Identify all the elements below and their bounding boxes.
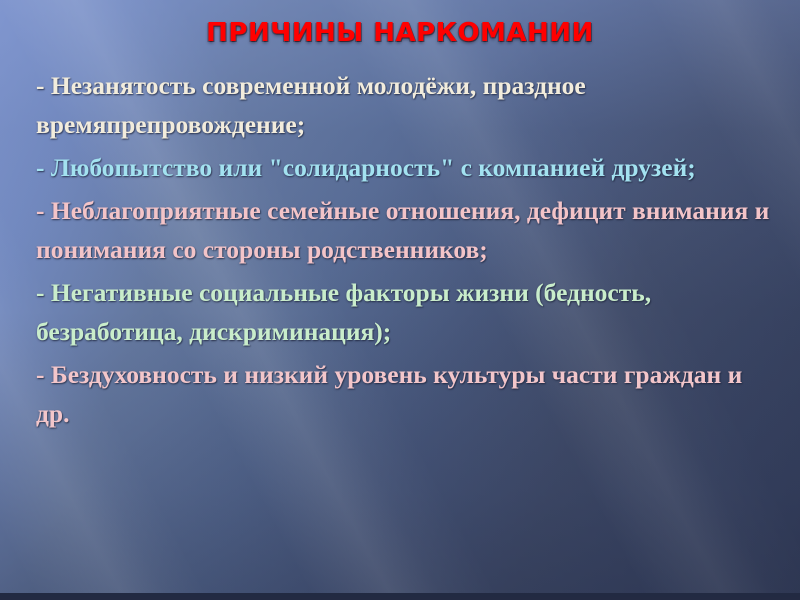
presentation-slide: ПРИЧИНЫ НАРКОМАНИИ - Незанятость совреме… (0, 0, 800, 600)
slide-body: - Незанятость современной молодёжи, праз… (36, 66, 778, 437)
bullet-paragraph-2: - Любопытство или "солидарность" с компа… (36, 148, 778, 187)
slide-title: ПРИЧИНЫ НАРКОМАНИИ (0, 18, 800, 48)
bullet-paragraph-3: - Неблагоприятные семейные отношения, де… (36, 191, 778, 269)
slide-content: ПРИЧИНЫ НАРКОМАНИИ - Незанятость совреме… (0, 0, 800, 597)
bullet-paragraph-5: - Бездуховность и низкий уровень культур… (36, 355, 778, 433)
bullet-paragraph-4: - Негативные социальные факторы жизни (б… (36, 273, 778, 351)
slide-bottom-border (0, 593, 800, 597)
bullet-paragraph-1: - Незанятость современной молодёжи, праз… (36, 66, 778, 144)
